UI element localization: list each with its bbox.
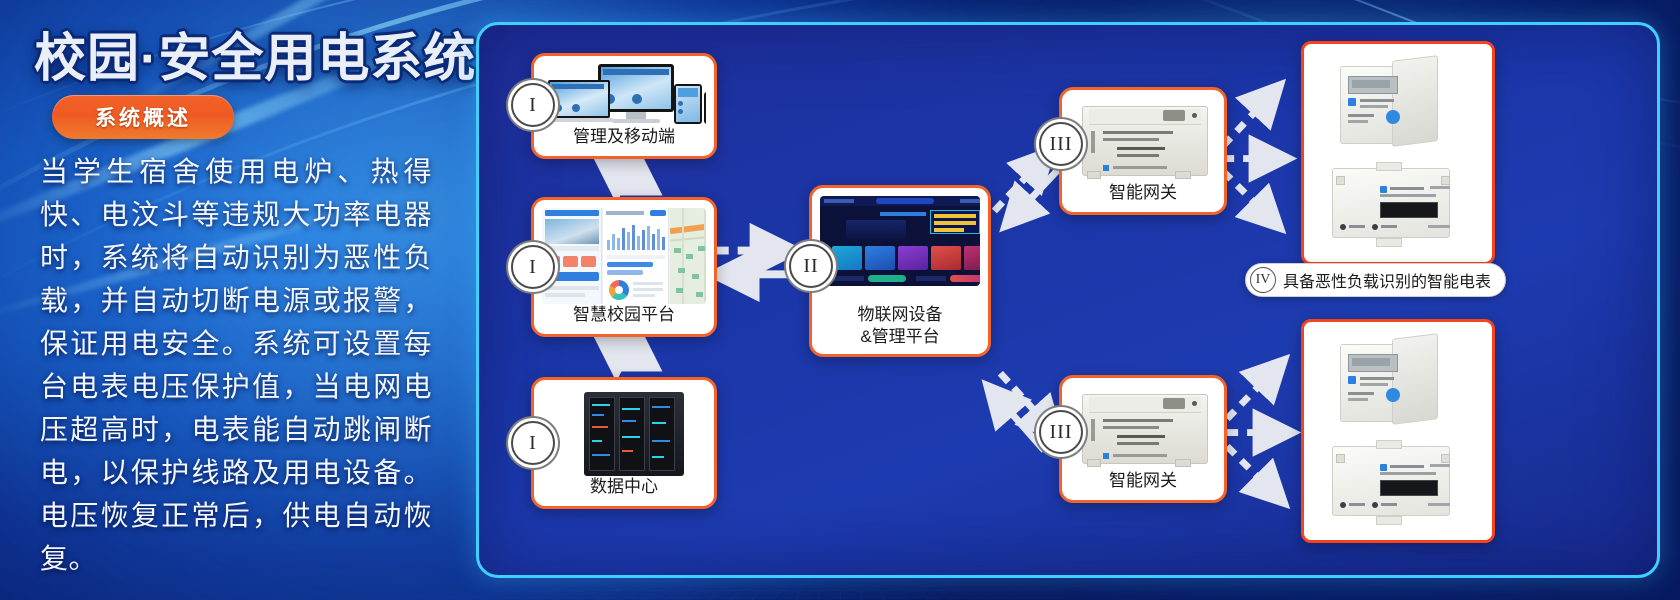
overview-paragraph: 当学生宿舍使用电炉、热得快、电汶斗等违规大功率电器时，系统将自动识别为恶性负载，…	[40, 150, 432, 580]
meter-three-phase-bottom	[1332, 440, 1456, 524]
meter-single-phase-top	[1340, 58, 1444, 150]
laptop-frame	[548, 80, 610, 118]
connector-gateway-top-meters	[1223, 86, 1287, 226]
node-label-line1: 物联网设备	[812, 304, 988, 326]
node-smart-gateway-bottom[interactable]: 智能网关	[1059, 375, 1227, 503]
meter-group-label-text: 具备恶性负载识别的智能电表	[1283, 268, 1491, 292]
node-label-data-center: 数据中心	[534, 476, 714, 498]
connector-gateway-bottom-meters	[1227, 361, 1291, 501]
page-title: 校园·安全用电系统	[34, 16, 476, 91]
node-label-smart-gateway-bottom: 智能网关	[1062, 470, 1224, 492]
gateway-device-image-bottom	[1070, 386, 1216, 472]
tablet-frame	[674, 84, 702, 124]
roman-badge-smart-gateway-top: III	[1039, 122, 1083, 166]
meter-panel-bottom[interactable]	[1301, 319, 1495, 543]
node-data-center[interactable]: 数据中心	[531, 377, 717, 509]
meter-three-phase-top	[1332, 162, 1456, 246]
node-label-line2: &管理平台	[812, 326, 988, 348]
phone-frame	[704, 92, 706, 124]
overview-column: 校园·安全用电系统 系统概述 当学生宿舍使用电炉、热得快、电汶斗等违规大功率电器…	[0, 0, 470, 600]
connector-platform-iot	[716, 251, 794, 275]
architecture-diagram-panel: 管理及移动端 I	[476, 22, 1660, 578]
node-label-smart-campus-platform: 智慧校园平台	[534, 304, 714, 326]
meter-panel-top[interactable]	[1301, 41, 1495, 265]
node-label-smart-gateway-top: 智能网关	[1062, 182, 1224, 204]
connector-platform-datacenter	[616, 334, 638, 372]
meter-group-label: IV 具备恶性负载识别的智能电表	[1245, 263, 1506, 297]
connector-management-platform	[616, 158, 638, 194]
section-badge: 系统概述	[52, 95, 234, 139]
node-iot-device-platform[interactable]: 物联网设备 &管理平台	[809, 185, 991, 357]
roman-badge-meter-group: IV	[1250, 267, 1276, 293]
node-smart-gateway-top[interactable]: 智能网关	[1059, 87, 1227, 215]
management-devices-image	[542, 64, 706, 130]
roman-badge-smart-campus-platform: I	[511, 245, 555, 289]
node-smart-campus-platform[interactable]: 智慧校园平台	[531, 197, 717, 337]
node-label-iot-device-platform: 物联网设备 &管理平台	[812, 304, 988, 348]
gateway-device-image-top	[1070, 98, 1216, 184]
iot-platform-image	[820, 196, 980, 286]
roman-badge-smart-gateway-bottom: III	[1039, 410, 1083, 454]
roman-badge-data-center: I	[511, 421, 555, 465]
roman-badge-iot-device-platform: II	[789, 244, 833, 288]
campus-map	[670, 208, 706, 304]
data-center-image	[542, 388, 706, 478]
node-label-management-mobile: 管理及移动端	[534, 126, 714, 148]
campus-platform-image	[542, 208, 706, 304]
roman-badge-management-mobile: I	[511, 83, 555, 127]
meter-single-phase-bottom	[1340, 336, 1444, 428]
node-management-mobile[interactable]: 管理及移动端	[531, 53, 717, 159]
